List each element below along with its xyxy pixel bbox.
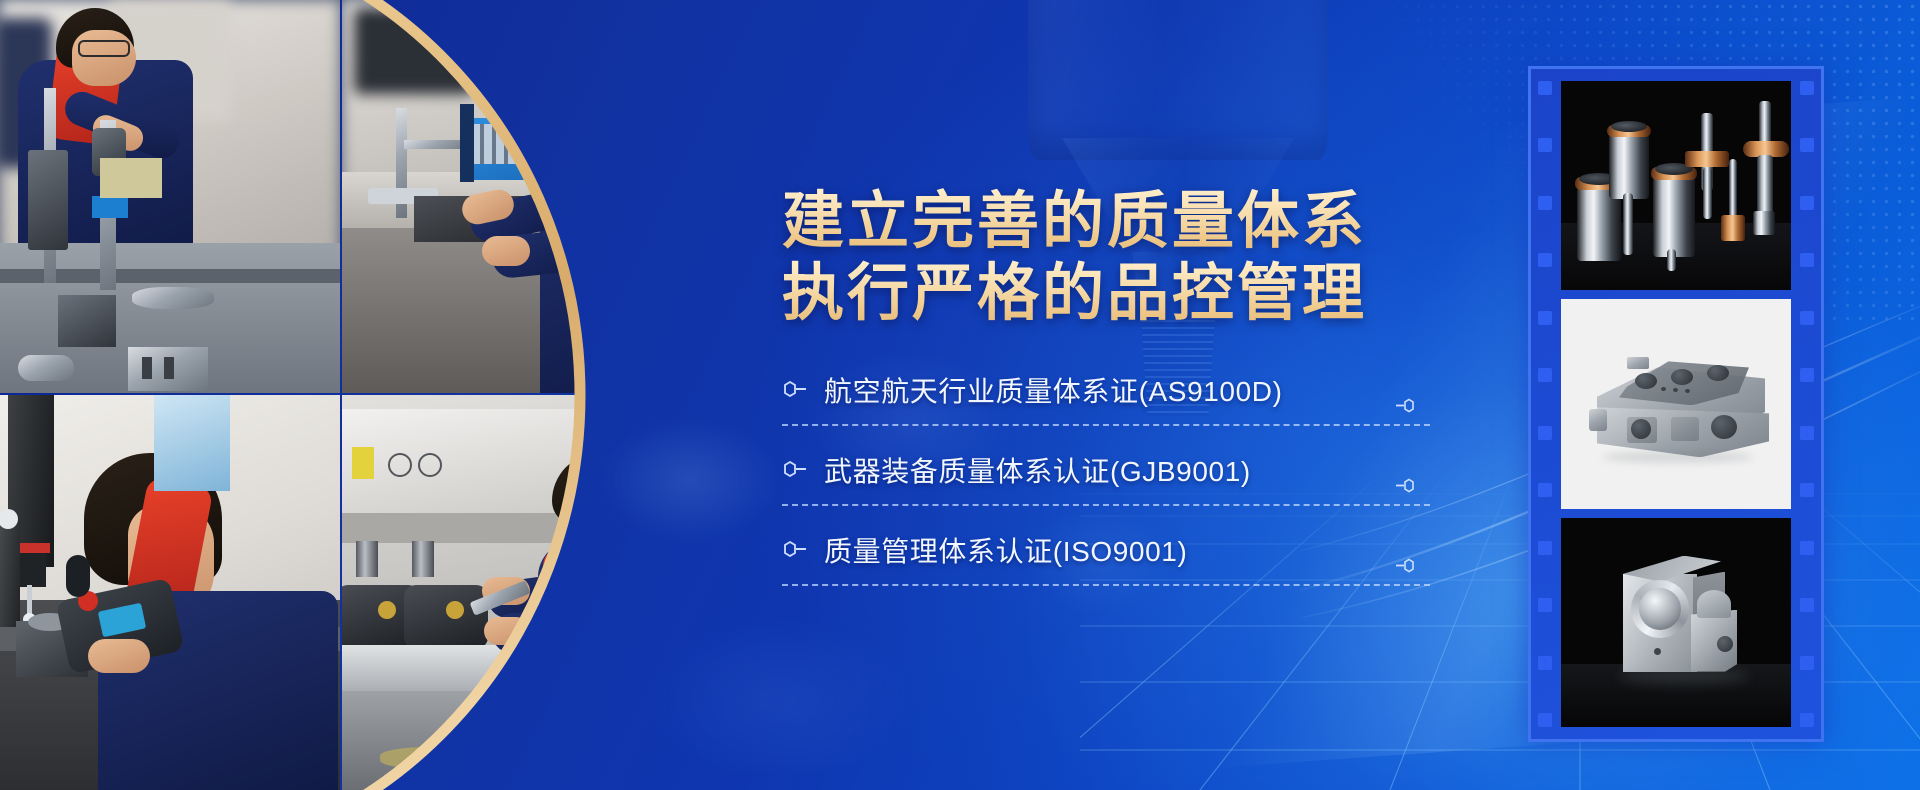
photo-collage	[0, 0, 690, 790]
hex-dot-icon	[782, 540, 808, 558]
hex-dot-icon	[782, 380, 808, 398]
quality-system-banner: 建立完善的质量体系 执行严格的品控管理 航空航天行业质量体系证(AS9100D)	[0, 0, 1920, 790]
collage-photo-cnc-machine-operation	[342, 395, 690, 790]
product-slide-precision-turned-parts	[1561, 81, 1791, 290]
certification-item: 武器装备质量体系认证(GJB9001)	[782, 452, 1482, 532]
filmstrip-perforations-right	[1800, 81, 1814, 727]
certification-label: 质量管理体系认证(ISO9001)	[824, 530, 1187, 570]
collage-photo-cmm-coordinate-measuring	[0, 395, 340, 790]
hex-dot-end-icon	[1396, 558, 1416, 573]
product-slide-machined-aluminum-housing	[1561, 299, 1791, 508]
filmstrip-perforations-left	[1538, 81, 1552, 727]
certification-label: 武器装备质量体系认证(GJB9001)	[824, 450, 1251, 490]
certification-item: 质量管理体系认证(ISO9001)	[782, 532, 1482, 612]
hex-dot-end-icon	[1396, 478, 1416, 493]
certification-divider	[782, 424, 1430, 426]
certification-divider	[782, 584, 1430, 586]
collage-photo-qc-bench-measurement	[342, 0, 690, 393]
certification-list: 航空航天行业质量体系证(AS9100D) 武器装备质量体系认证(GJB9	[782, 372, 1482, 612]
spindle-head	[1028, 0, 1328, 160]
headline-line-1: 建立完善的质量体系	[782, 186, 1482, 258]
collage-photo-qc-height-gauge-inspection	[0, 0, 340, 393]
certification-divider	[782, 504, 1430, 506]
certification-item: 航空航天行业质量体系证(AS9100D)	[782, 372, 1482, 452]
headline-and-certifications: 建立完善的质量体系 执行严格的品控管理 航空航天行业质量体系证(AS9100D)	[782, 186, 1482, 612]
hex-dot-end-icon	[1396, 398, 1416, 413]
headline-line-2: 执行严格的品控管理	[782, 258, 1482, 330]
product-slide-aluminum-bearing-block	[1561, 518, 1791, 727]
product-showcase-filmstrip	[1528, 66, 1824, 742]
certification-label: 航空航天行业质量体系证(AS9100D)	[824, 370, 1283, 410]
hex-dot-icon	[782, 460, 808, 478]
